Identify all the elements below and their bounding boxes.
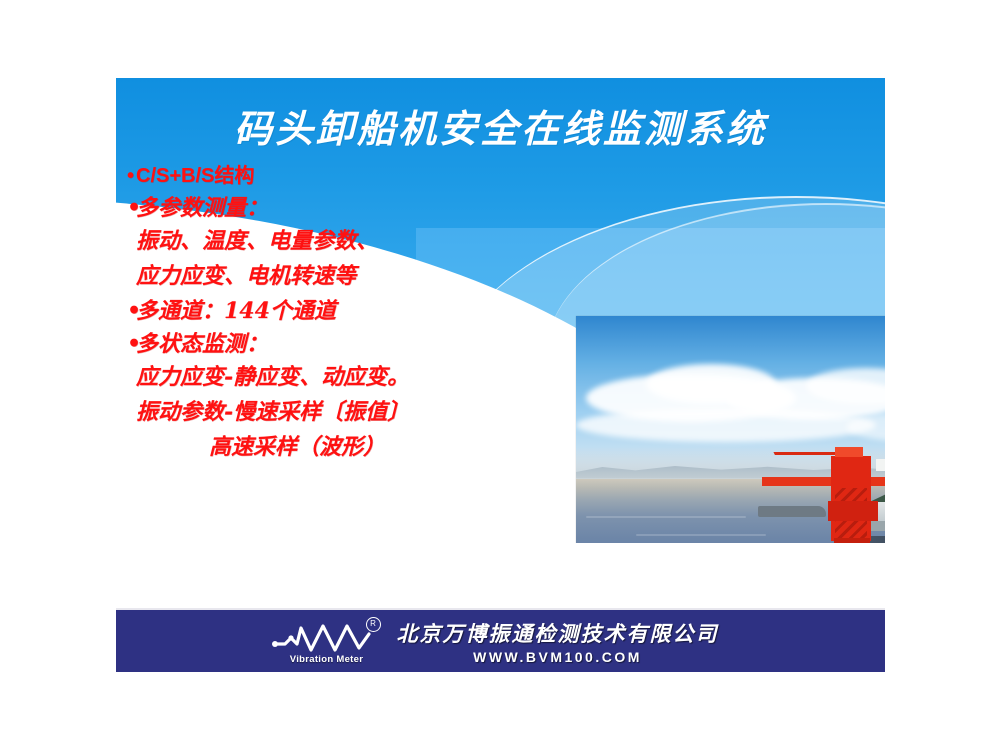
logo-caption: Vibration Meter	[275, 654, 379, 665]
footer-inner: R Vibration Meter 北京万博振通检测技术有限公司 WWW.BVM…	[271, 618, 719, 665]
body-line-params-1: 振动、温度、电量参数、	[127, 230, 477, 252]
body-line-vib-slow: 振动参数-慢速采样〔振值〕	[127, 401, 477, 423]
body-line-text: 振动参数-慢速采样〔振值〕	[136, 399, 409, 425]
body-line-text: C/S+B/S结构	[136, 165, 254, 187]
photo-sea-sheen	[636, 534, 766, 536]
vibration-meter-logo-icon: R Vibration Meter	[271, 618, 383, 664]
crane-counter-arm	[870, 477, 885, 485]
body-line-params-2: 应力应变、电机转速等	[127, 265, 477, 287]
port-crane-photo	[576, 316, 885, 543]
slide-content-panel: 码头卸船机安全在线监测系统 •C/S+B/S结构 •多参数测量： 振动、温度、电…	[116, 78, 885, 543]
company-name: 北京万博振通检测技术有限公司	[397, 618, 719, 648]
crane-machine-house	[828, 501, 878, 521]
crane-signboard	[876, 459, 885, 471]
bullet-marker: •	[127, 333, 136, 355]
page-title: 码头卸船机安全在线监测系统	[116, 98, 885, 153]
registered-trademark-icon: R	[366, 617, 381, 632]
crane-legs	[834, 538, 870, 543]
footer-bar: R Vibration Meter 北京万博振通检测技术有限公司 WWW.BVM…	[116, 608, 885, 672]
slide-canvas: 码头卸船机安全在线监测系统 •C/S+B/S结构 •多参数测量： 振动、温度、电…	[0, 0, 1000, 750]
body-line-multi-state: •多状态监测：	[127, 333, 477, 355]
body-line-text: 振动、温度、电量参数、	[136, 228, 378, 254]
body-line-text: 高速采样（波形）	[209, 434, 385, 460]
body-line-text: 应力应变-静应变、动应变。	[136, 364, 409, 390]
photo-bulk-carrier	[758, 506, 826, 517]
body-line-strain: 应力应变-静应变、动应变。	[127, 366, 477, 388]
crane-top-cap	[835, 447, 863, 457]
footer-text-block: 北京万博振通检测技术有限公司 WWW.BVM100.COM	[397, 618, 719, 665]
slide-body-text: •C/S+B/S结构 •多参数测量： 振动、温度、电量参数、 应力应变、电机转速…	[127, 166, 477, 471]
bullet-marker: •	[127, 166, 136, 186]
body-line-text: 多状态监测：	[136, 331, 268, 357]
bullet-marker: •	[127, 197, 136, 219]
company-website[interactable]: WWW.BVM100.COM	[473, 649, 642, 665]
body-line-vib-fast: 高速采样（波形）	[127, 436, 477, 458]
body-line-text: 多通道：144个通道	[136, 298, 336, 324]
photo-sea-sheen	[586, 516, 746, 518]
body-line-cs-bs: •C/S+B/S结构	[127, 166, 477, 186]
body-line-text: 应力应变、电机转速等	[136, 263, 356, 289]
bullet-marker: •	[127, 300, 136, 322]
body-line-text: 多参数测量：	[136, 195, 268, 221]
photo-cloud	[576, 408, 876, 442]
body-line-channels: •多通道：144个通道	[127, 300, 477, 322]
body-line-multi-param: •多参数测量：	[127, 197, 477, 219]
